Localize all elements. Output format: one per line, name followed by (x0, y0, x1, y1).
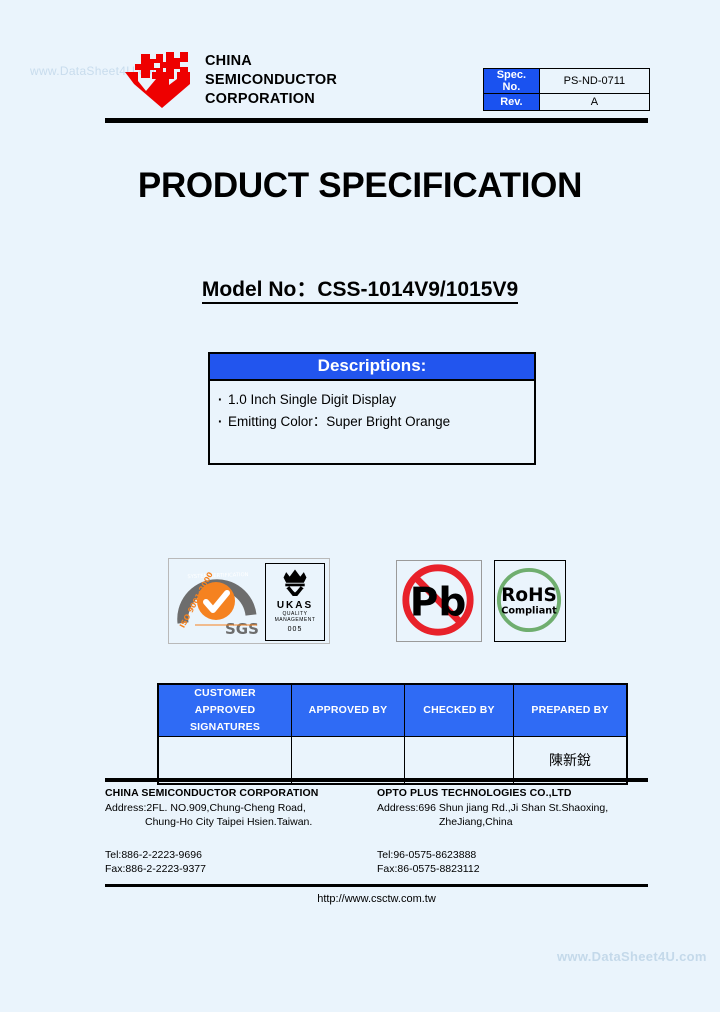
description-item-text: 1.0 Inch Single Digit Display (228, 392, 396, 407)
ukas-title: UKAS (266, 600, 324, 611)
footer-column-left: CHINA SEMICONDUCTOR CORPORATION Address:… (105, 786, 319, 877)
signature-header-approved-by: APPROVED BY (292, 684, 405, 737)
company-name-line1: CHINA (205, 52, 337, 71)
company-name-line3: CORPORATION (205, 90, 337, 109)
footer-left-address-line1: Address:2FL. NO.909,Chung-Cheng Road, (105, 801, 319, 816)
signature-cell-approved-by[interactable] (292, 737, 405, 785)
rev-row: Rev. A (484, 94, 650, 111)
signature-header-checked-by: CHECKED BY (405, 684, 514, 737)
footer-bottom-rule (105, 884, 648, 887)
footer-left-fax: Fax:886-2-2223-9377 (105, 862, 319, 877)
signature-table-header-row: CUSTOMER APPROVED SIGNATURES APPROVED BY… (158, 684, 627, 737)
footer-left-tel: Tel:886-2-2223-9696 (105, 848, 319, 863)
svg-text:SYSTEM CERTIFICATION: SYSTEM CERTIFICATION (187, 572, 248, 580)
sgs-iso-9001-icon: SYSTEM CERTIFICATION ISO 9001:2000 SGS (175, 565, 259, 637)
svg-text:SGS: SGS (225, 620, 259, 637)
sgs-iso-certification-block: SYSTEM CERTIFICATION ISO 9001:2000 SGS U… (168, 558, 330, 644)
spec-no-value: PS-ND-0711 (539, 69, 649, 94)
crown-icon (266, 566, 324, 601)
svg-text:Pb: Pb (410, 581, 467, 626)
footer-right-address-line1: Address:696 Shun jiang Rd.,Ji Shan St.Sh… (377, 801, 608, 816)
pb-free-icon: Pb (397, 561, 479, 639)
descriptions-heading: Descriptions: (210, 354, 534, 381)
footer-right-tel: Tel:96-0575-8623888 (377, 848, 608, 863)
signature-table: CUSTOMER APPROVED SIGNATURES APPROVED BY… (157, 683, 628, 785)
company-name-line2: SEMICONDUCTOR (205, 71, 337, 90)
bullet-icon: · (218, 411, 228, 433)
signature-header-line2: SIGNATURES (163, 719, 287, 736)
svg-text:RoHS: RoHS (501, 585, 557, 606)
signature-cell-checked-by[interactable] (405, 737, 514, 785)
description-item: ·Emitting Color：Super Bright Orange (218, 411, 534, 433)
lead-free-logo-block: Pb (396, 560, 482, 642)
china-semiconductor-logo-icon (119, 48, 203, 110)
watermark-bottom: www.DataSheet4U.com (557, 949, 707, 964)
spec-number-table: Spec. No. PS-ND-0711 Rev. A (483, 68, 650, 111)
signature-header-line1: CUSTOMER APPROVED (163, 685, 287, 719)
svg-text:Compliant: Compliant (501, 606, 557, 617)
ukas-line2: MANAGEMENT (266, 617, 324, 623)
footer-right-fax: Fax:86-0575-8823112 (377, 862, 608, 877)
page-header: CHINA SEMICONDUCTOR CORPORATION Spec. No… (105, 44, 650, 114)
footer-right-address-line2: ZheJiang,China (377, 815, 608, 830)
signature-header-prepared-by: PREPARED BY (514, 684, 628, 737)
spec-no-row: Spec. No. PS-ND-0711 (484, 69, 650, 94)
footer-column-right: OPTO PLUS TECHNOLOGIES CO.,LTD Address:6… (377, 786, 608, 877)
signature-header-customer-approved: CUSTOMER APPROVED SIGNATURES (158, 684, 292, 737)
company-name: CHINA SEMICONDUCTOR CORPORATION (205, 52, 337, 109)
header-divider-rule (105, 118, 648, 123)
ukas-number: 005 (266, 626, 324, 633)
signature-table-value-row: 陳新銳 (158, 737, 627, 785)
footer-top-rule (105, 778, 648, 782)
page-title: PRODUCT SPECIFICATION (0, 166, 720, 206)
ukas-certification-block: UKAS QUALITY MANAGEMENT 005 (265, 563, 325, 641)
descriptions-body: ·1.0 Inch Single Digit Display ·Emitting… (210, 381, 534, 463)
signature-cell-customer[interactable] (158, 737, 292, 785)
spec-no-label: Spec. No. (484, 69, 540, 94)
rohs-compliant-icon: RoHS Compliant (495, 561, 563, 639)
footer-website-link[interactable]: http://www.csctw.com.tw (105, 893, 648, 905)
rev-value: A (539, 94, 649, 111)
rev-label: Rev. (484, 94, 540, 111)
model-number-text: Model No：CSS-1014V9/1015V9 (202, 278, 518, 304)
signature-cell-prepared-by[interactable]: 陳新銳 (514, 737, 628, 785)
descriptions-box: Descriptions: ·1.0 Inch Single Digit Dis… (208, 352, 536, 465)
rohs-logo-block: RoHS Compliant (494, 560, 566, 642)
model-number: Model No：CSS-1014V9/1015V9 (0, 273, 720, 303)
footer-left-address-line2: Chung-Ho City Taipei Hsien.Taiwan. (105, 815, 319, 830)
footer-left-company: CHINA SEMICONDUCTOR CORPORATION (105, 786, 319, 801)
description-item-text: Emitting Color：Super Bright Orange (228, 414, 450, 429)
description-item: ·1.0 Inch Single Digit Display (218, 389, 534, 411)
bullet-icon: · (218, 389, 228, 411)
certification-logos: SYSTEM CERTIFICATION ISO 9001:2000 SGS U… (0, 556, 720, 652)
footer-right-company: OPTO PLUS TECHNOLOGIES CO.,LTD (377, 786, 608, 801)
